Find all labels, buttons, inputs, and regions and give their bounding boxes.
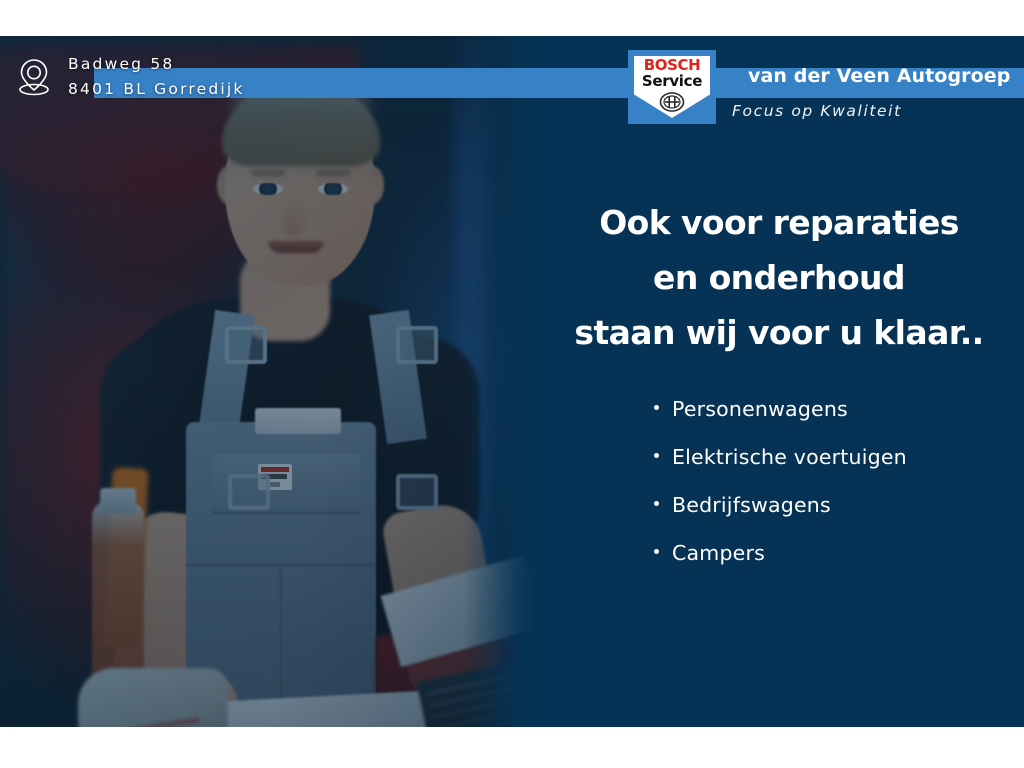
photo-right-fade — [464, 36, 534, 727]
workshop-photo — [0, 36, 534, 727]
headline-line-2: en onderhoud — [534, 250, 1024, 305]
list-item: Personenwagens — [654, 385, 907, 433]
list-item: Elektrische voertuigen — [654, 433, 907, 481]
info-panel: BOSCH Service van der Veen Autogroep Foc… — [534, 36, 1024, 727]
promotional-banner: Badweg 58 8401 BL Gorredijk BOSCH Servic… — [0, 36, 1024, 727]
address-city: 8401 BL Gorredijk — [68, 77, 245, 102]
bullet-dot-icon — [654, 501, 659, 506]
bullet-dot-icon — [654, 549, 659, 554]
list-item: Bedrijfswagens — [654, 481, 907, 529]
address-block: Badweg 58 8401 BL Gorredijk — [16, 52, 245, 102]
bosch-logo-service-text: Service — [634, 74, 710, 89]
brand-tagline: Focus op Kwaliteit — [732, 102, 902, 120]
bullet-dot-icon — [654, 405, 659, 410]
location-pin-icon — [16, 56, 52, 98]
bosch-service-logo: BOSCH Service — [628, 50, 716, 124]
services-list: Personenwagens Elektrische voertuigen Be… — [654, 385, 907, 577]
address-lines: Badweg 58 8401 BL Gorredijk — [68, 52, 245, 102]
bosch-armature-icon — [659, 92, 685, 112]
list-item: Campers — [654, 529, 907, 577]
address-street: Badweg 58 — [68, 52, 245, 77]
headline-line-3: staan wij voor u klaar.. — [534, 305, 1024, 360]
brand-name: van der Veen Autogroep — [748, 65, 1024, 87]
bullet-dot-icon — [654, 453, 659, 458]
bosch-logo-wordmark: BOSCH — [634, 58, 710, 73]
headline: Ook voor reparaties en onderhoud staan w… — [534, 195, 1024, 360]
service-label: Bedrijfswagens — [672, 493, 831, 517]
service-label: Elektrische voertuigen — [672, 445, 907, 469]
headline-line-1: Ook voor reparaties — [534, 195, 1024, 250]
service-label: Campers — [672, 541, 765, 565]
service-label: Personenwagens — [672, 397, 848, 421]
